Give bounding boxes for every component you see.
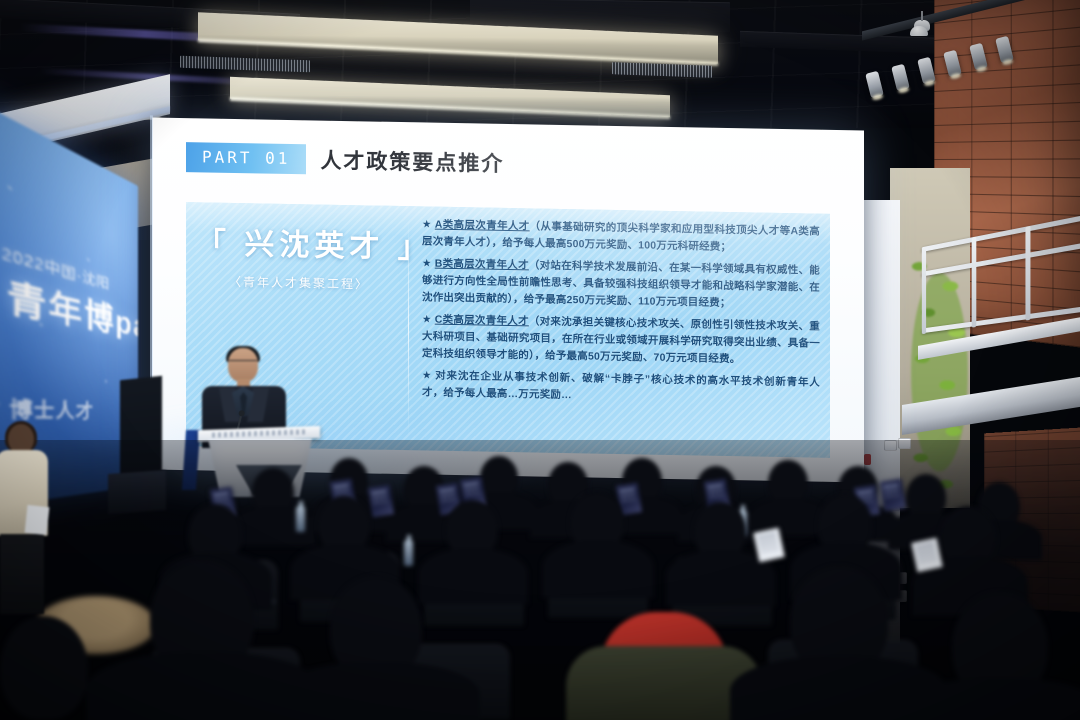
audience-head [0, 616, 88, 720]
program-subtitle: 〈青年人才集聚工程〉 [196, 272, 402, 293]
glasses-icon [229, 360, 257, 367]
bullet-star-icon: ★ [422, 218, 432, 230]
bullet-term: A类高层次青年人才 [435, 219, 530, 233]
bullet-star-icon: ★ [422, 313, 432, 325]
staff-trousers [0, 534, 44, 614]
slide-header: PART 01 人才政策要点推介 [186, 142, 504, 178]
standing-staff [0, 424, 52, 614]
track-spotlight-icon [891, 64, 910, 91]
bullet-star-icon: ★ [422, 369, 432, 381]
bullet-term: B类高层次青年人才 [435, 258, 529, 272]
audience-shoulders [418, 548, 528, 604]
slide-bullet: ★C类高层次青年人才（对来沈承担关键核心技术攻关、原创性引领性技术攻关、重大科研… [422, 311, 820, 369]
program-title: 「 兴沈英才 」 [196, 218, 402, 266]
backdrop-line-2: 青年博рай [7, 277, 138, 348]
slide-part-badge: PART 01 [186, 142, 306, 174]
slide-bullet: ★A类高层次青年人才（从事基础研究的顶尖科学家和应用型科技顶尖人才等A类高层次青… [422, 216, 820, 257]
lectern-nameplate [212, 429, 308, 437]
slide-title: 人才政策要点推介 [320, 145, 504, 178]
event-booklet [880, 478, 906, 511]
audience-shoulders [542, 540, 654, 598]
slide-program-block: 「 兴沈英才 」 〈青年人才集聚工程〉 [196, 218, 402, 293]
event-booklet [368, 484, 394, 517]
conference-scene: 2022中国·沈阳 青年博рай 博士人才 PART 01 人才政策要点推介 「… [0, 0, 1080, 720]
red-hooded-attendee [600, 612, 728, 720]
dome-camera-icon [910, 26, 928, 36]
bullet-term: C类高层次青年人才 [435, 314, 529, 328]
bullet-text: 对来沈在企业从事技术创新、破解“卡脖子”核心技术的高水平技术创新青年人才，给予每… [422, 370, 820, 402]
slide-bullet: ★B类高层次青年人才（对站在科学技术发展前沿、在某一科学领域具有权威性、能够进行… [422, 255, 820, 313]
audience-shoulders [276, 662, 480, 720]
water-bottle [404, 540, 413, 566]
backdrop-line-3: 博士人才 [10, 391, 94, 423]
printed-handout [25, 505, 50, 535]
water-bottle [296, 506, 305, 532]
slide-bullet-list: ★A类高层次青年人才（从事基础研究的顶尖科学家和应用型科技顶尖人才等A类高层次青… [422, 216, 820, 413]
track-spotlight-icon [865, 71, 884, 98]
bullet-star-icon: ★ [422, 257, 432, 269]
